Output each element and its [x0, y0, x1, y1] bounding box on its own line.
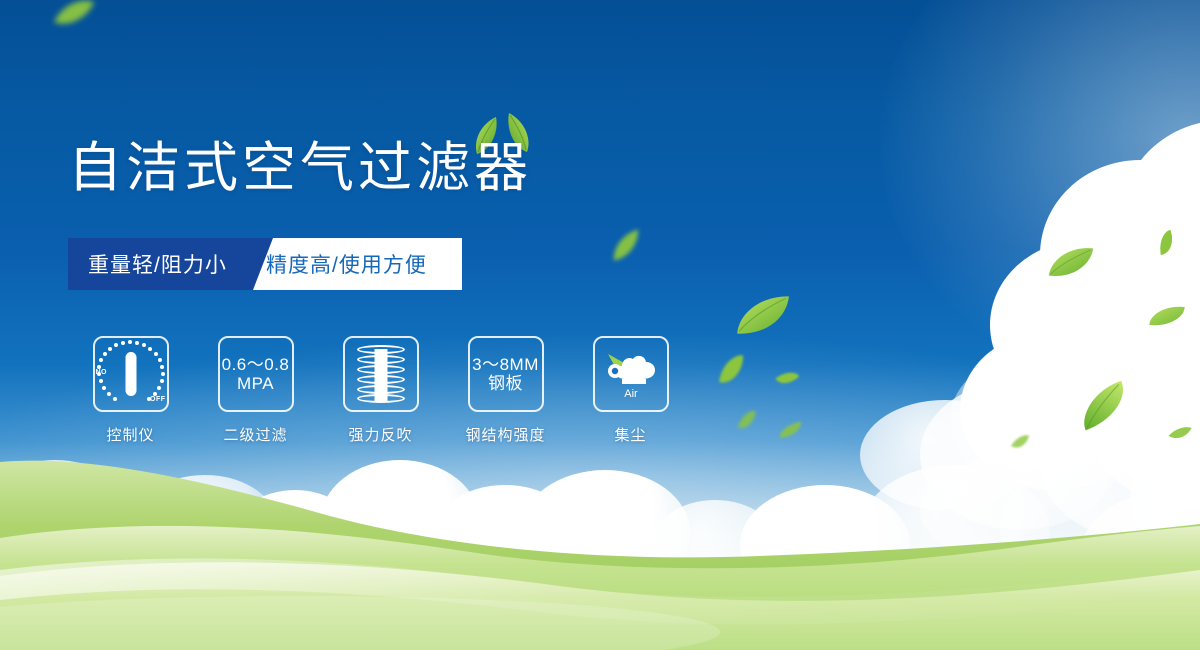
- grass-hills: [0, 420, 1200, 650]
- filter-coil-icon: [357, 345, 405, 403]
- feature-list: NO OFF 控制仪 0.6～0.8 MPA 二级过滤: [68, 336, 693, 445]
- leaf-float-7: [1043, 232, 1098, 292]
- dial-off-label: OFF: [150, 396, 166, 403]
- subtitle-left-text: 重量轻/阻力小: [88, 238, 227, 290]
- pressure-value-icon: 0.6～0.8 MPA: [222, 355, 290, 394]
- subtitle-badge: 重量轻/阻力小 精度高/使用方便: [68, 238, 462, 290]
- feature-label-control-dial: 控制仪: [106, 424, 154, 445]
- feature-item-dust[interactable]: Air 集尘: [568, 336, 693, 445]
- feature-item-steel[interactable]: 3～8MM 钢板 钢结构强度: [443, 336, 568, 445]
- leaf-float-8: [1150, 227, 1182, 259]
- feature-box-steel: 3～8MM 钢板: [468, 336, 544, 412]
- leaf-float-3: [711, 351, 752, 388]
- leaf-float-4: [773, 364, 802, 392]
- feature-label-backblow: 强力反吹: [348, 424, 412, 445]
- steel-plate-icon: 3～8MM 钢板: [472, 355, 539, 394]
- subtitle-right-text: 精度高/使用方便: [266, 238, 427, 290]
- feature-item-backblow[interactable]: 强力反吹: [318, 336, 443, 445]
- leaf-float-2: [731, 279, 795, 350]
- leaf-blur-topleft: [52, 0, 96, 28]
- feature-box-pressure: 0.6～0.8 MPA: [218, 336, 294, 412]
- air-cloud-icon: Air: [602, 348, 660, 400]
- feature-item-pressure[interactable]: 0.6～0.8 MPA 二级过滤: [193, 336, 318, 445]
- feature-label-pressure: 二级过滤: [223, 424, 287, 445]
- control-dial-icon: NO OFF: [97, 340, 165, 408]
- page-title: 自洁式空气过滤器: [68, 141, 532, 195]
- dial-pointer: [125, 352, 136, 396]
- feature-label-steel: 钢结构强度: [465, 424, 545, 445]
- air-label: Air: [624, 388, 638, 400]
- feature-box-backblow: [343, 336, 419, 412]
- feature-box-dust: Air: [593, 336, 669, 412]
- dial-on-label: NO: [96, 369, 108, 376]
- product-hero-banner: 自洁式空气过滤器 重量轻/阻力小 精度高/使用方便: [0, 0, 1200, 650]
- feature-label-dust: 集尘: [614, 424, 646, 445]
- feature-item-control-dial[interactable]: NO OFF 控制仪: [68, 336, 193, 445]
- leaf-float-9: [1146, 296, 1188, 337]
- leaf-float-1: [610, 223, 643, 268]
- feature-box-control-dial: NO OFF: [93, 336, 169, 412]
- sun-glow: [880, 0, 1200, 400]
